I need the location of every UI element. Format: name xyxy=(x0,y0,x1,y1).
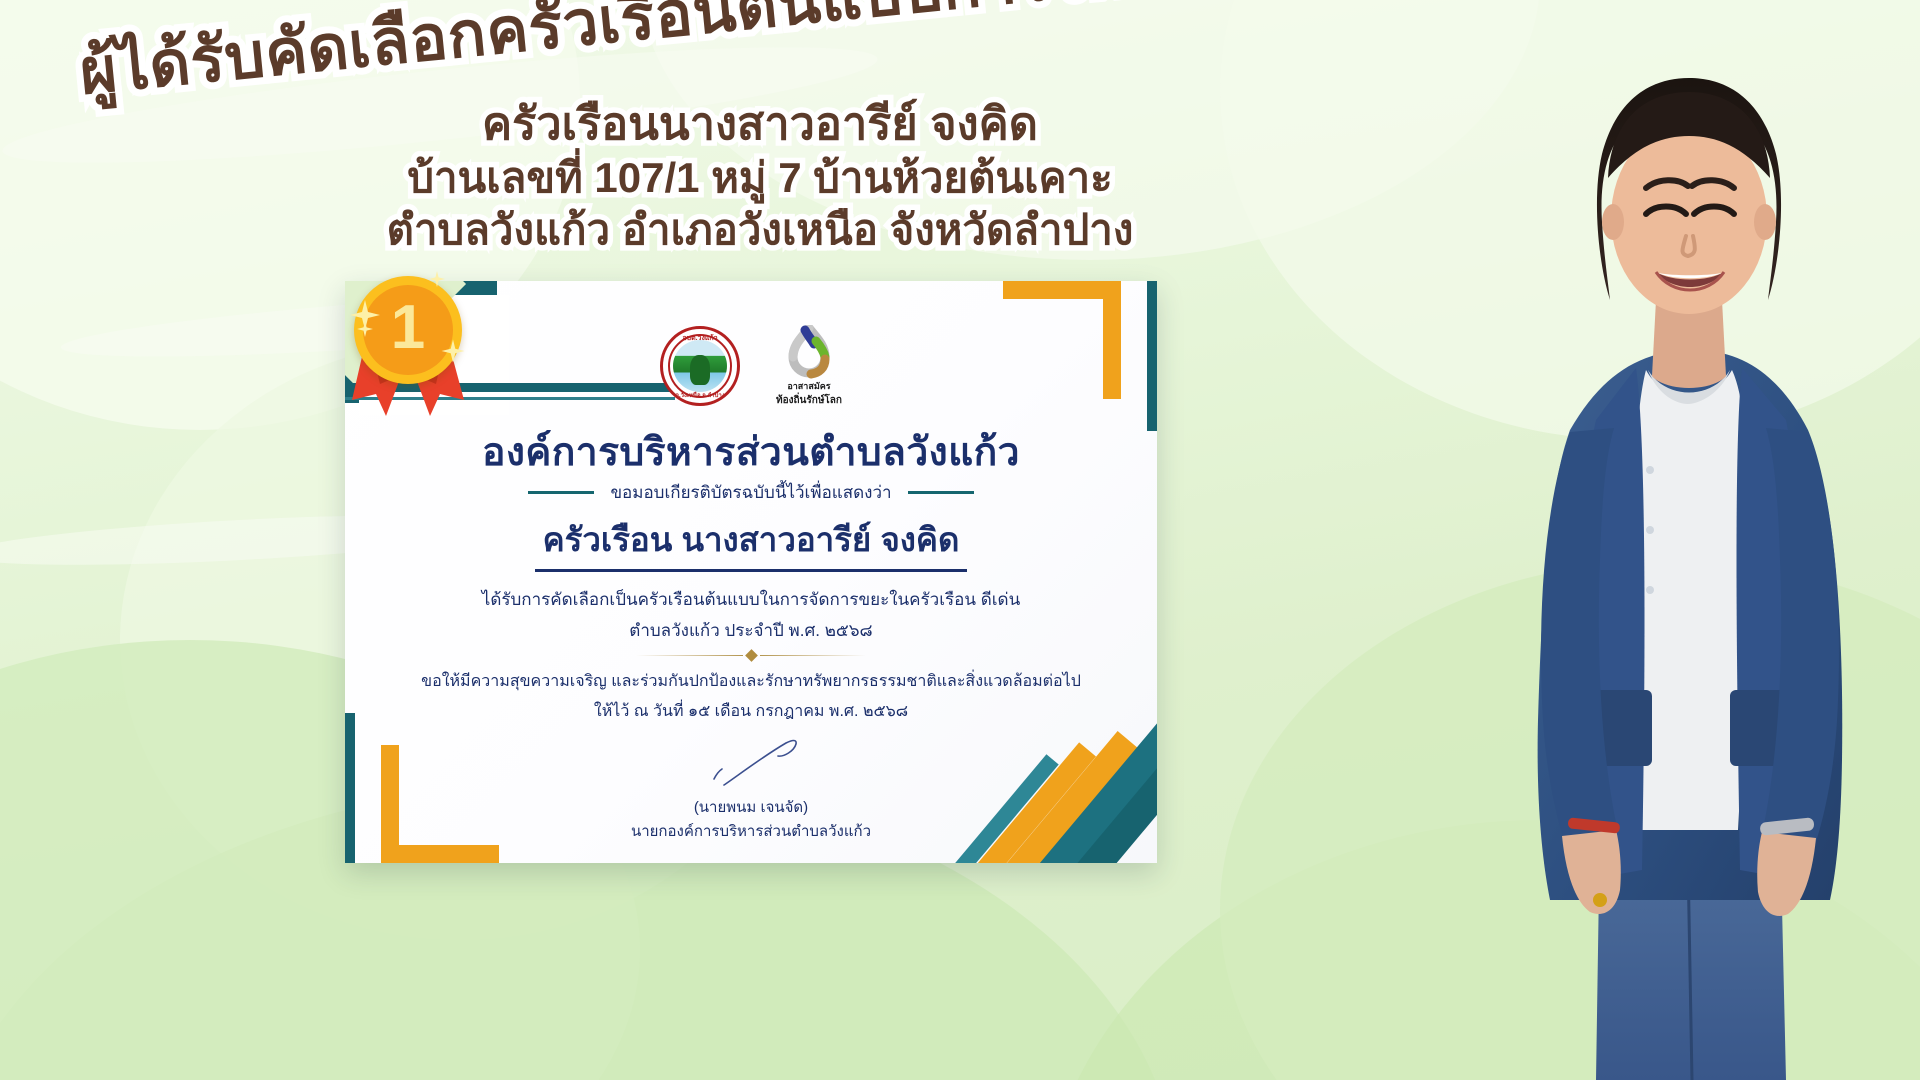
banner-subtitle-group: ครัวเรือนนางสาวอารีย์ จงคิด บ้านเลขที่ 1… xyxy=(0,96,1520,256)
signature-name: (นายพนม เจนจัด) xyxy=(345,795,1157,819)
banner-subtitle-line-3: ตำบลวังแก้ว อำเภอวังเหนือ จังหวัดลำปาง xyxy=(0,204,1520,256)
volunteer-logo-line-2: ท้องถิ่นรักษ์โลก xyxy=(776,395,842,406)
certificate-recipient: ครัวเรือน นางสาวอารีย์ จงคิด xyxy=(345,513,1157,572)
sparkle-icon xyxy=(428,270,446,288)
diamond-icon xyxy=(745,649,758,662)
diamond-ornament-divider xyxy=(636,651,866,660)
volunteer-logo-line-1: อาสาสมัคร xyxy=(787,382,830,392)
certificate-blessing-line-2: ให้ไว้ ณ วันที่ ๑๕ เดือน กรกฎาคม พ.ศ. ๒๕… xyxy=(345,697,1157,727)
handwritten-signature-icon xyxy=(666,733,836,793)
seal-text-top: อบต.วังแก้ว xyxy=(663,333,737,344)
banner-subtitle-line-1: ครัวเรือนนางสาวอารีย์ จงคิด xyxy=(0,96,1520,152)
certificate-award-intro: ขอมอบเกียรติบัตรฉบับนี้ไว้เพื่อแสดงว่า xyxy=(610,479,891,506)
medal-disc: 1 xyxy=(354,276,462,384)
signature-role: นายกองค์การบริหารส่วนตำบลวังแก้ว xyxy=(345,819,1157,843)
corner-decoration-bottom-left xyxy=(381,845,499,863)
rank-medal-badge: 1 xyxy=(336,276,484,446)
certificate-body-line-2: ตำบลวังแก้ว ประจำปี พ.ศ. ๒๕๖๘ xyxy=(345,615,1157,646)
wang-kaeo-subdistrict-seal-icon: อบต.วังแก้ว อ.วังเหนือ จ.ลำปาง xyxy=(660,326,740,406)
sparkle-icon xyxy=(440,338,466,364)
certificate-body-line-1: ได้รับการคัดเลือกเป็นครัวเรือนต้นแบบในกา… xyxy=(345,584,1157,615)
portrait-woman-denim-jacket xyxy=(1450,0,1920,1080)
certificate-award-intro-row: ขอมอบเกียรติบัตรฉบับนี้ไว้เพื่อแสดงว่า xyxy=(345,479,1157,506)
certificate-blessing-line-1: ขอให้มีความสุขความเจริญ และร่วมกันปกป้อง… xyxy=(345,667,1157,697)
corner-decoration-top-right xyxy=(1003,281,1121,299)
divider-dash-left xyxy=(528,491,594,494)
sparkle-icon xyxy=(356,320,374,338)
banner-subtitle-line-2: บ้านเลขที่ 107/1 หมู่ 7 บ้านห้วยต้นเคาะ xyxy=(0,152,1520,204)
banner-canvas: ผู้ได้รับคัดเลือกครัวเรือนต้นแบบการจัดกา… xyxy=(0,0,1920,1080)
local-environment-volunteer-logo: อาสาสมัคร ท้องถิ่นรักษ์โลก xyxy=(776,325,842,406)
certificate-recipient-name: ครัวเรือน นางสาวอารีย์ จงคิด xyxy=(535,513,968,572)
certificate-signature-block: (นายพนม เจนจัด) นายกองค์การบริหารส่วนตำบ… xyxy=(345,733,1157,843)
certificate-blessing: ขอให้มีความสุขความเจริญ และร่วมกันปกป้อง… xyxy=(345,667,1157,728)
divider-dash-right xyxy=(908,491,974,494)
certificate-body: ได้รับการคัดเลือกเป็นครัวเรือนต้นแบบในกา… xyxy=(345,584,1157,647)
seal-text-bottom: อ.วังเหนือ จ.ลำปาง xyxy=(663,390,737,400)
volunteer-droplet-icon xyxy=(783,325,835,379)
